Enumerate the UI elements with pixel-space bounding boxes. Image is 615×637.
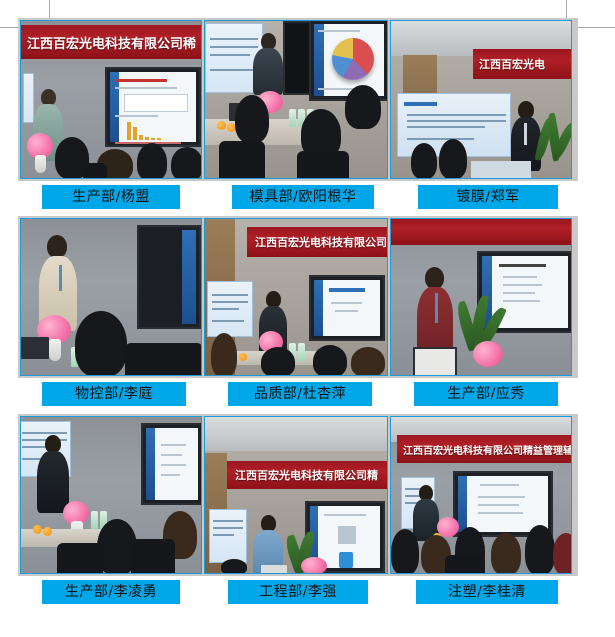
slide xyxy=(314,280,380,336)
slide-line xyxy=(478,504,519,506)
slide-line xyxy=(115,115,158,117)
audience-head xyxy=(261,347,295,376)
slide-table xyxy=(124,94,188,112)
photo-r2c2[interactable]: 江西百宏光电科技有限公司 xyxy=(204,218,388,376)
caption-r3c2[interactable]: 工程部/李强 xyxy=(228,580,368,604)
audience-head xyxy=(221,559,247,574)
slide-title-rule xyxy=(499,264,545,267)
fruit xyxy=(239,353,247,361)
presenter-person xyxy=(253,33,283,95)
slide-title-rule xyxy=(329,288,366,292)
slide-sidebar xyxy=(458,476,467,532)
photo-row-1-photos: 江西百宏光电科技有限公司稀 xyxy=(20,20,576,179)
caption-r1c1[interactable]: 生产部/杨盟 xyxy=(42,185,180,209)
poster-line xyxy=(212,320,245,322)
chair xyxy=(125,343,202,376)
slide xyxy=(142,230,196,324)
flower-arrangement xyxy=(473,341,503,367)
poster-line xyxy=(210,54,249,56)
photo-r2c3-scene xyxy=(391,219,571,375)
flower-arrangement xyxy=(301,557,327,574)
poster-title xyxy=(404,102,438,106)
poster-line xyxy=(213,520,243,522)
slide-sidebar xyxy=(110,72,119,142)
photo-r3c2-banner: 江西百宏光电科技有限公司精 xyxy=(227,461,388,489)
audience-head xyxy=(345,85,381,129)
slide-sidebar xyxy=(314,24,324,96)
body xyxy=(253,48,283,95)
slide-sidebar xyxy=(182,230,196,324)
photo-r3c1-scene xyxy=(21,417,201,573)
audience-head xyxy=(351,347,385,376)
audience-head xyxy=(491,533,521,574)
fruit xyxy=(217,121,226,130)
poster-line xyxy=(210,46,257,48)
slide-line xyxy=(478,496,525,498)
slide xyxy=(146,428,198,500)
photo-r1c3[interactable]: 江西百宏光电 xyxy=(390,20,572,179)
vase xyxy=(35,155,46,173)
caption-r2c3[interactable]: 生产部/应秀 xyxy=(414,382,558,406)
presentation-screen xyxy=(141,423,202,505)
pie-chart xyxy=(332,38,374,80)
photo-r2c2-banner: 江西百宏光电科技有限公司 xyxy=(247,227,388,257)
poster-line xyxy=(210,38,257,40)
water-bottle xyxy=(298,343,305,361)
slide-line xyxy=(503,276,537,278)
photo-r2c1[interactable] xyxy=(20,218,202,376)
audience-head xyxy=(525,525,555,574)
audience-head xyxy=(137,143,167,179)
presentation-screen xyxy=(137,225,201,329)
head xyxy=(425,267,444,289)
photo-r1c1-scene: 江西百宏光电科技有限公司稀 xyxy=(21,21,201,178)
slide-line xyxy=(503,300,541,302)
photo-r2c3-banner xyxy=(391,219,572,245)
photo-r2c3[interactable] xyxy=(390,218,572,376)
fruit xyxy=(43,527,52,536)
slide-title-rule xyxy=(115,79,167,82)
presenter-person xyxy=(37,435,69,513)
audience-head xyxy=(553,533,572,574)
photo-r2c2-scene: 江西百宏光电科技有限公司 xyxy=(205,219,387,375)
poster-line xyxy=(212,308,239,310)
caption-row-2: 物控部/李庭 品质部/杜杏萍 生产部/应秀 xyxy=(0,382,615,412)
chair xyxy=(445,555,485,574)
fruit xyxy=(33,525,42,534)
slide-image xyxy=(338,526,356,544)
poster-line xyxy=(407,120,506,122)
slide-line xyxy=(335,310,357,312)
photo-r2c1-scene xyxy=(21,219,201,375)
slide-line xyxy=(478,512,523,514)
body xyxy=(37,451,69,513)
photo-r1c2-scene xyxy=(205,21,387,178)
laptop xyxy=(413,347,457,376)
slide xyxy=(314,24,384,96)
lanyard xyxy=(435,293,438,323)
caption-r3c1[interactable]: 生产部/李凌勇 xyxy=(42,580,180,604)
chair xyxy=(297,151,349,179)
audience-head xyxy=(439,139,467,179)
audience-head xyxy=(75,311,127,376)
water-bottle xyxy=(289,109,296,127)
slide-bar-chart xyxy=(127,120,161,140)
caption-r2c1[interactable]: 物控部/李庭 xyxy=(42,382,186,406)
chair xyxy=(57,543,103,574)
ceiling xyxy=(205,417,387,451)
slide-line xyxy=(161,464,186,466)
photo-r3c2[interactable]: 江西百宏光电科技有限公司精 xyxy=(204,416,388,574)
poster-line xyxy=(407,114,506,116)
photo-r3c1[interactable] xyxy=(20,416,202,574)
poster-line xyxy=(407,138,474,140)
poster-line xyxy=(210,69,255,71)
vase xyxy=(49,339,61,361)
poster-line xyxy=(213,527,243,529)
lanyard xyxy=(524,123,527,145)
slide-line xyxy=(161,444,186,446)
chair xyxy=(131,539,175,574)
audience-head xyxy=(171,147,202,179)
chair xyxy=(83,163,107,179)
caption-r1c3[interactable]: 镀膜/郑军 xyxy=(418,185,558,209)
caption-row-1: 生产部/杨盟 模具部/欧阳根华 镀膜/郑军 xyxy=(0,185,615,215)
poster-board xyxy=(209,509,247,563)
slide-line xyxy=(324,514,366,516)
audience-head xyxy=(211,333,237,376)
photo-row-2-photos: 江西百宏光电科技有限公司 xyxy=(20,218,576,376)
audience-head xyxy=(411,143,437,179)
photo-row-3-photos: 江西百宏光电科技有限公司精 xyxy=(20,416,576,574)
photo-r1c3-banner: 江西百宏光电 xyxy=(473,49,572,79)
slide-line xyxy=(318,30,360,32)
caption-row-3: 生产部/李凌勇 工程部/李强 注塑/李桂清 xyxy=(0,580,615,610)
presenter-person xyxy=(417,267,453,359)
slide-line xyxy=(115,87,177,89)
poster-board xyxy=(207,281,253,337)
slide xyxy=(458,476,548,532)
slide-line xyxy=(480,484,520,486)
photo-r1c2[interactable] xyxy=(204,20,388,179)
head xyxy=(47,235,67,258)
presentation-screen xyxy=(105,67,201,147)
laptop xyxy=(261,565,287,574)
lanyard xyxy=(59,265,62,291)
photo-r3c3-banner: 江西百宏光电科技有限公司精益管理辅 xyxy=(397,435,572,463)
poster-line xyxy=(212,294,249,296)
laptop xyxy=(21,337,49,359)
photo-r3c2-scene: 江西百宏光电科技有限公司精 xyxy=(205,417,387,573)
presentation-screen xyxy=(309,275,385,341)
slide-sidebar xyxy=(314,280,323,336)
slide-line xyxy=(161,454,183,456)
audience-head xyxy=(235,95,269,143)
caption-r3c3[interactable]: 注塑/李桂清 xyxy=(416,580,558,604)
slide-icon xyxy=(339,552,353,568)
photo-r1c3-scene: 江西百宏光电 xyxy=(391,21,571,178)
photo-r1c1[interactable]: 江西百宏光电科技有限公司稀 xyxy=(20,20,202,179)
poster-line xyxy=(407,126,485,128)
caption-r1c2[interactable]: 模具部/欧阳根华 xyxy=(232,185,374,209)
slide-line xyxy=(503,284,543,286)
chair xyxy=(219,141,265,179)
poster-line xyxy=(22,432,67,434)
water-bottle xyxy=(91,511,98,529)
photo-r3c3-scene: 江西百宏光电科技有限公司精益管理辅 xyxy=(391,417,571,573)
caption-r2c2[interactable]: 品质部/杜杏萍 xyxy=(228,382,372,406)
slide-sidebar xyxy=(146,428,155,500)
photo-r3c3[interactable]: 江西百宏光电科技有限公司精益管理辅 xyxy=(390,416,572,574)
presentation-screen xyxy=(309,20,388,101)
poster-line xyxy=(213,534,235,536)
poster-line xyxy=(212,301,249,303)
photo-r1c1-banner: 江西百宏光电科技有限公司稀 xyxy=(20,25,202,59)
audience-head xyxy=(313,345,347,376)
slide-line xyxy=(503,292,536,294)
slide-line xyxy=(161,474,181,476)
slide xyxy=(110,72,196,142)
audience-head xyxy=(391,529,419,574)
slide-line xyxy=(331,302,361,304)
table xyxy=(471,161,531,179)
